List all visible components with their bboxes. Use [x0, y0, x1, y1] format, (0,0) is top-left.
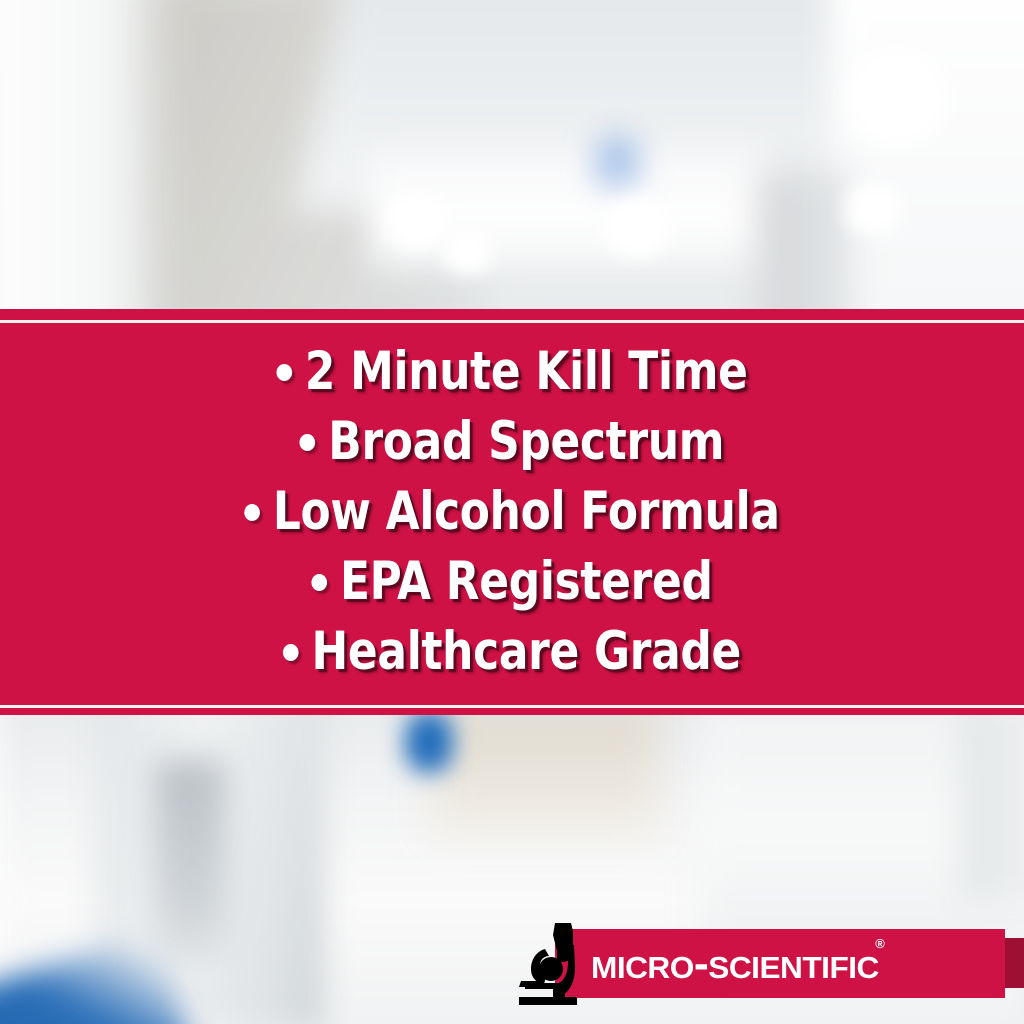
bg-ceiling-light	[838, 45, 956, 151]
bullet-dot-icon	[283, 644, 299, 661]
feature-list-item: Broad Spectrum	[41, 407, 983, 477]
bg-ceiling-light	[598, 195, 676, 261]
bg-cabinet-shadow	[155, 760, 225, 960]
logo-wordmark: Micro-Scientific ®	[591, 929, 1003, 998]
feature-list: 2 Minute Kill Time Broad Spectrum Low Al…	[0, 337, 1024, 691]
bullet-dot-icon	[276, 364, 292, 381]
feature-list-item: Healthcare Grade	[41, 617, 983, 687]
logo-wordmark-text: Micro-Scientific	[591, 942, 879, 986]
banner-bottom-hairline	[0, 705, 1024, 708]
banner-bottom-stripe	[0, 708, 1024, 715]
bg-ceiling-light	[840, 180, 906, 238]
banner-top-stripe	[0, 309, 1024, 320]
feature-label: EPA Registered	[340, 551, 713, 612]
bg-doorway	[430, 700, 660, 840]
feature-banner-body: 2 Minute Kill Time Broad Spectrum Low Al…	[0, 323, 1024, 705]
bg-ceiling-light	[438, 228, 498, 276]
bg-wall-lower-right-2	[960, 700, 1024, 900]
bg-blue-monitor-glow	[582, 122, 652, 202]
feature-banner: 2 Minute Kill Time Broad Spectrum Low Al…	[0, 309, 1024, 715]
bg-blue-object	[402, 708, 456, 776]
feature-label: Broad Spectrum	[328, 411, 724, 472]
poster-canvas: 2 Minute Kill Time Broad Spectrum Low Al…	[0, 0, 1024, 1024]
feature-list-item: EPA Registered	[41, 547, 983, 617]
feature-list-item: Low Alcohol Formula	[41, 477, 983, 547]
feature-list-item: 2 Minute Kill Time	[41, 337, 983, 407]
brand-logo: Micro-Scientific ®	[511, 921, 1024, 1005]
bullet-dot-icon	[244, 504, 260, 521]
bullet-dot-icon	[311, 574, 327, 591]
microscope-icon	[511, 921, 593, 1005]
feature-label: Healthcare Grade	[311, 621, 741, 682]
feature-label: 2 Minute Kill Time	[305, 341, 748, 402]
feature-label: Low Alcohol Formula	[273, 481, 780, 542]
bullet-dot-icon	[300, 434, 316, 451]
